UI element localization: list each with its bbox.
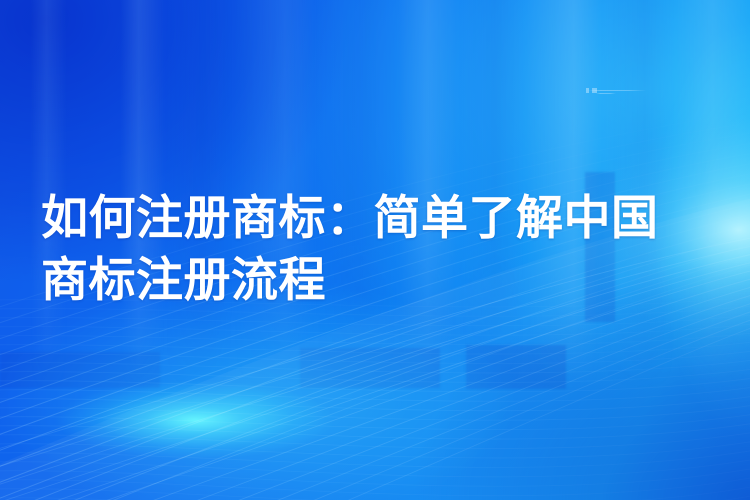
banner-title-line-1: 如何注册商标：简单了解中国 (41, 188, 731, 250)
banner-title: 如何注册商标：简单了解中国 商标注册流程 (41, 188, 731, 312)
banner-canvas: 如何注册商标：简单了解中国 商标注册流程 (0, 0, 750, 500)
banner-title-line-2: 商标注册流程 (41, 250, 731, 312)
